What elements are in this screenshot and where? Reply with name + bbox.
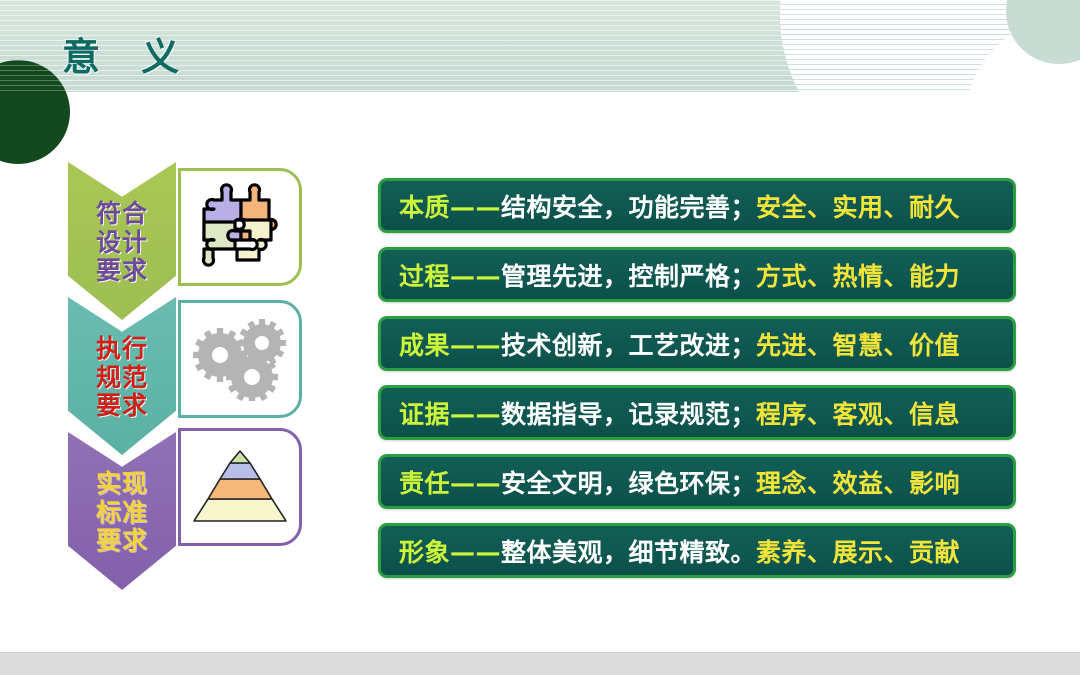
statement-tail: 方式、热情、能力 xyxy=(756,257,960,293)
slide-canvas: 意 义 符合 设计 要求 执行 规范 要求 实现 标准 要求 xyxy=(0,0,1080,675)
stage-2-line-2: 规范 xyxy=(96,364,148,393)
statement-tail: 素养、展示、贡献 xyxy=(756,533,960,569)
statement-mid: 数据指导，记录规范； xyxy=(501,395,756,431)
stage-3-line-1: 实现 xyxy=(96,470,148,499)
stage-chevron-2[interactable]: 执行 规范 要求 xyxy=(68,297,176,455)
statement-tail: 安全、实用、耐久 xyxy=(756,188,960,224)
stage-1-line-3: 要求 xyxy=(96,257,148,286)
stage-1-line-1: 符合 xyxy=(96,200,148,229)
statement-bar[interactable]: 证据—— 数据指导，记录规范； 程序、客观、信息 xyxy=(378,385,1016,440)
stage-3-line-3: 要求 xyxy=(96,527,148,556)
page-title: 意 义 xyxy=(62,26,193,81)
stage-2-line-1: 执行 xyxy=(96,335,148,364)
statement-key: 责任—— xyxy=(399,464,501,500)
stage-chevron-column: 符合 设计 要求 执行 规范 要求 实现 标准 要求 xyxy=(68,162,176,586)
statement-key: 证据—— xyxy=(399,395,501,431)
statement-bar[interactable]: 本质—— 结构安全，功能完善； 安全、实用、耐久 xyxy=(378,178,1016,233)
pyramid-icon xyxy=(188,445,292,529)
puzzle-pieces-icon xyxy=(192,181,288,273)
statement-bar-list: 本质—— 结构安全，功能完善； 安全、实用、耐久 过程—— 管理先进，控制严格；… xyxy=(378,178,1016,592)
gears-icon xyxy=(190,317,290,401)
stage-3-line-2: 标准 xyxy=(96,499,148,528)
statement-key: 成果—— xyxy=(399,326,501,362)
statement-key: 本质—— xyxy=(399,188,501,224)
statement-mid: 安全文明，绿色环保； xyxy=(501,464,756,500)
bottom-strip xyxy=(0,652,1080,675)
stage-3-icon-box xyxy=(178,428,302,546)
statement-mid: 管理先进，控制严格； xyxy=(501,257,756,293)
statement-bar[interactable]: 过程—— 管理先进，控制严格； 方式、热情、能力 xyxy=(378,247,1016,302)
stage-1-icon-box xyxy=(178,168,302,286)
statement-mid: 结构安全，功能完善； xyxy=(501,188,756,224)
statement-tail: 先进、智慧、价值 xyxy=(756,326,960,362)
stage-2-icon-box xyxy=(178,300,302,418)
statement-key: 形象—— xyxy=(399,533,501,569)
statement-tail: 理念、效益、影响 xyxy=(756,464,960,500)
statement-mid: 技术创新，工艺改进； xyxy=(501,326,756,362)
stage-chevron-3[interactable]: 实现 标准 要求 xyxy=(68,432,176,590)
stage-1-line-2: 设计 xyxy=(96,229,148,258)
statement-key: 过程—— xyxy=(399,257,501,293)
statement-bar[interactable]: 形象—— 整体美观，细节精致。 素养、展示、贡献 xyxy=(378,523,1016,578)
stage-2-line-3: 要求 xyxy=(96,392,148,421)
statement-bar[interactable]: 责任—— 安全文明，绿色环保； 理念、效益、影响 xyxy=(378,454,1016,509)
stage-chevron-1[interactable]: 符合 设计 要求 xyxy=(68,162,176,320)
statement-bar[interactable]: 成果—— 技术创新，工艺改进； 先进、智慧、价值 xyxy=(378,316,1016,371)
statement-mid: 整体美观，细节精致。 xyxy=(501,533,756,569)
statement-tail: 程序、客观、信息 xyxy=(756,395,960,431)
